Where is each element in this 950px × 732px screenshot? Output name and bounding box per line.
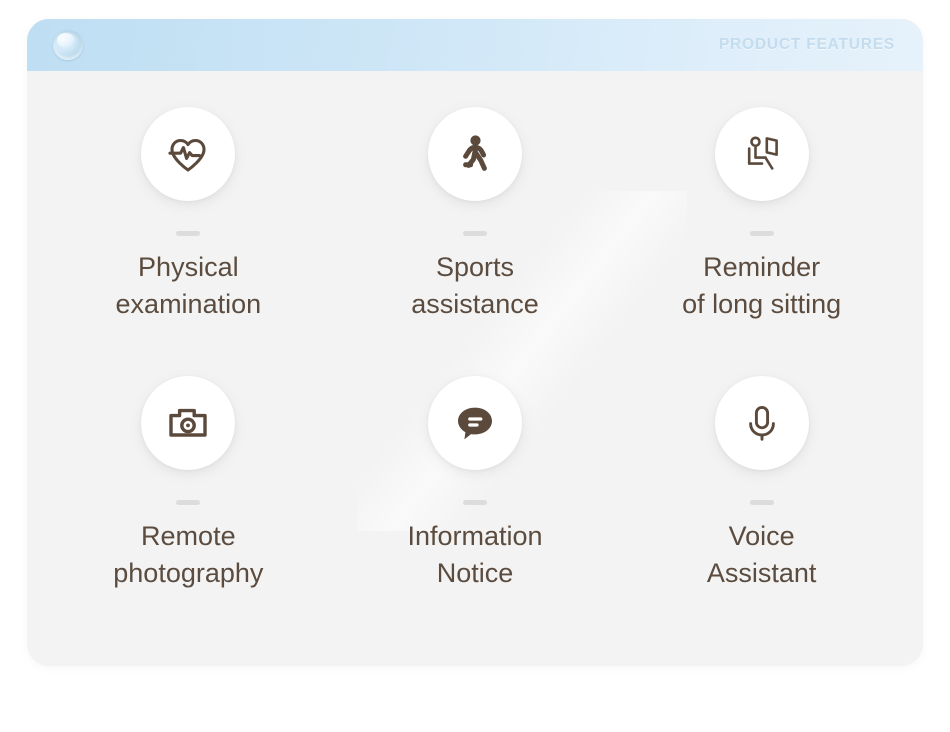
- feature-label: Physical examination: [116, 249, 262, 324]
- divider-dash: [750, 500, 774, 505]
- camera-icon: [164, 399, 212, 447]
- feature-item-remote-photography[interactable]: Remote photography: [45, 376, 332, 645]
- feature-grid: Physical examination: [27, 71, 923, 666]
- page-title: PRODUCT FEATURES: [719, 36, 895, 54]
- icon-badge: [141, 107, 235, 201]
- sitting-person-screen-icon: [738, 130, 786, 178]
- divider-dash: [463, 500, 487, 505]
- speech-bubble-icon: [451, 399, 499, 447]
- feature-label: Remote photography: [113, 518, 263, 593]
- feature-label: Information Notice: [407, 518, 542, 593]
- feature-item-sports-assistance[interactable]: Sports assistance: [332, 107, 619, 376]
- feature-label: Sports assistance: [411, 249, 539, 324]
- feature-item-information-notice[interactable]: Information Notice: [332, 376, 619, 645]
- feature-item-voice-assistant[interactable]: Voice Assistant: [618, 376, 905, 645]
- page-root: PRODUCT FEATURES Physi: [0, 0, 950, 732]
- feature-item-long-sitting-reminder[interactable]: Reminder of long sitting: [618, 107, 905, 376]
- icon-badge: [715, 376, 809, 470]
- divider-dash: [176, 500, 200, 505]
- divider-dash: [750, 231, 774, 236]
- feature-label: Reminder of long sitting: [682, 249, 841, 324]
- microphone-icon: [738, 399, 786, 447]
- divider-dash: [463, 231, 487, 236]
- card-body: Physical examination: [27, 71, 923, 666]
- feature-item-physical-examination[interactable]: Physical examination: [45, 107, 332, 376]
- divider-dash: [176, 231, 200, 236]
- icon-badge: [428, 107, 522, 201]
- walking-person-icon: [451, 130, 499, 178]
- icon-badge: [715, 107, 809, 201]
- icon-badge: [141, 376, 235, 470]
- heart-pulse-icon: [164, 130, 212, 178]
- glossy-sphere-logo-icon: [53, 30, 83, 60]
- feature-label: Voice Assistant: [707, 518, 817, 593]
- icon-badge: [428, 376, 522, 470]
- card-header: PRODUCT FEATURES: [27, 19, 923, 71]
- product-features-card: PRODUCT FEATURES Physi: [27, 19, 923, 666]
